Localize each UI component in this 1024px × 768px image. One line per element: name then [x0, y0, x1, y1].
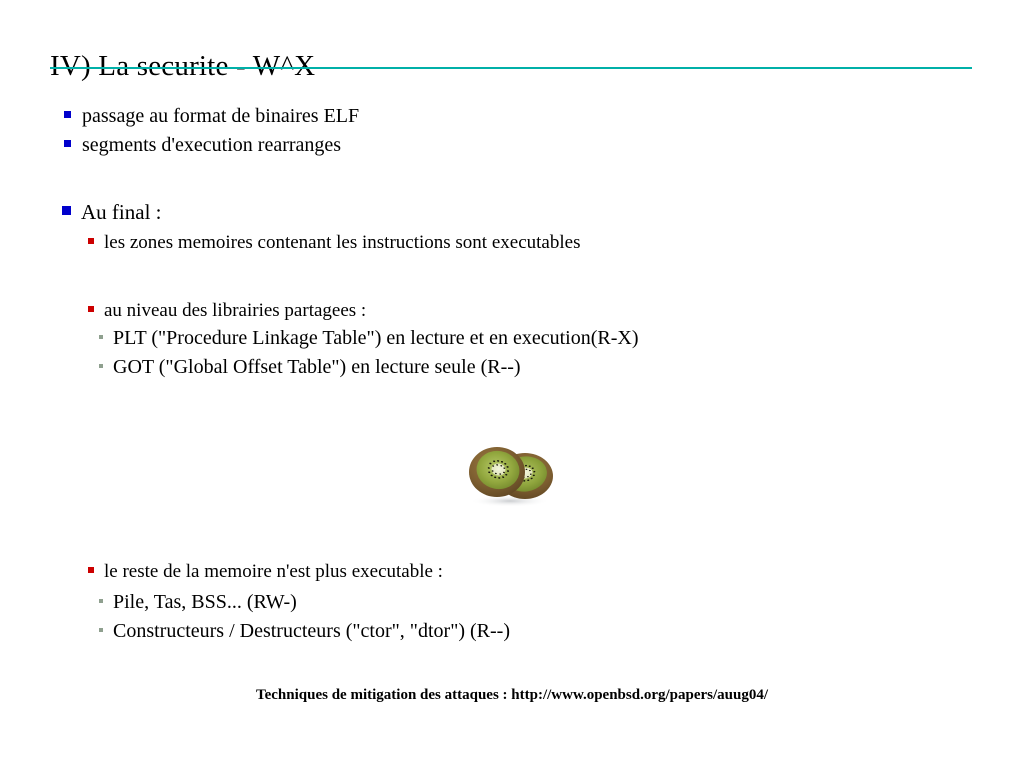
list-item-label: Constructeurs / Destructeurs ("ctor", "d… — [113, 619, 510, 643]
list-item-label: les zones memoires contenant les instruc… — [104, 231, 580, 254]
list-item: segments d'execution rearranges — [64, 133, 341, 157]
title-divider — [50, 67, 972, 69]
list-item-label: GOT ("Global Offset Table") en lecture s… — [113, 355, 521, 379]
square-bullet-icon — [64, 111, 71, 118]
list-item: Pile, Tas, BSS... (RW-) — [99, 590, 297, 614]
list-item: GOT ("Global Offset Table") en lecture s… — [99, 355, 521, 379]
list-item-label: au niveau des librairies partagees : — [104, 299, 366, 322]
square-bullet-icon — [88, 238, 94, 244]
list-item: le reste de la memoire n'est plus execut… — [88, 560, 443, 583]
list-item-label: passage au format de binaires ELF — [82, 104, 359, 128]
square-bullet-icon — [99, 599, 103, 603]
list-item: les zones memoires contenant les instruc… — [88, 231, 580, 254]
list-item: PLT ("Procedure Linkage Table") en lectu… — [99, 326, 638, 350]
list-item: passage au format de binaires ELF — [64, 104, 359, 128]
square-bullet-icon — [64, 140, 71, 147]
list-item-label: PLT ("Procedure Linkage Table") en lectu… — [113, 326, 638, 350]
list-item-label: Pile, Tas, BSS... (RW-) — [113, 590, 297, 614]
footer-reference: Techniques de mitigation des attaques : … — [0, 686, 1024, 705]
square-bullet-icon — [88, 567, 94, 573]
square-bullet-icon — [99, 628, 103, 632]
slide-canvas: IV) La securite - W^X passage au format … — [0, 0, 1024, 768]
square-bullet-icon — [62, 206, 71, 215]
list-item-label: Au final : — [81, 200, 161, 225]
square-bullet-icon — [99, 335, 103, 339]
square-bullet-icon — [99, 364, 103, 368]
list-item-label: segments d'execution rearranges — [82, 133, 341, 157]
list-item: Constructeurs / Destructeurs ("ctor", "d… — [99, 619, 510, 643]
kiwi-fruit-image — [462, 440, 558, 508]
list-item: au niveau des librairies partagees : — [88, 299, 366, 322]
list-item: Au final : — [62, 200, 161, 225]
square-bullet-icon — [88, 306, 94, 312]
kiwi-illustration — [462, 440, 558, 508]
list-item-label: le reste de la memoire n'est plus execut… — [104, 560, 443, 583]
